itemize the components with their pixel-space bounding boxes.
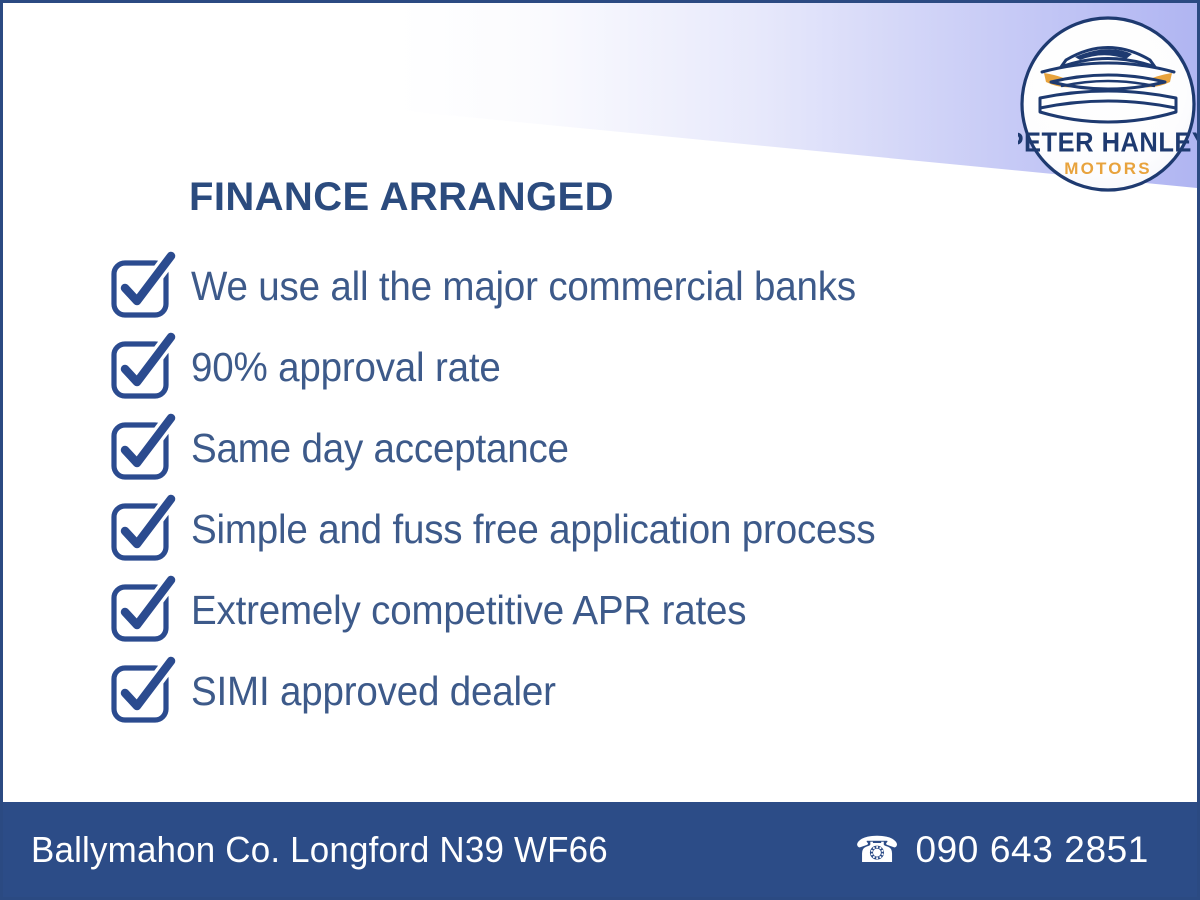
- checkbox-checked-icon: [109, 335, 175, 401]
- logo-sub-text: MOTORS: [1064, 159, 1152, 178]
- telephone-icon: ☎: [855, 832, 900, 868]
- list-item-label: Same day acceptance: [191, 428, 569, 469]
- list-item: We use all the major commercial banks: [109, 246, 1169, 327]
- list-item-label: Extremely competitive APR rates: [191, 590, 746, 631]
- checkbox-checked-icon: [109, 254, 175, 320]
- list-item: SIMI approved dealer: [109, 651, 1169, 732]
- logo-name-text: PETER HANLEY: [1018, 127, 1198, 158]
- phone-contact[interactable]: ☎ 090 643 2851: [855, 829, 1167, 871]
- list-item-label: 90% approval rate: [191, 347, 501, 388]
- checkbox-checked-icon: [109, 416, 175, 482]
- list-item-label: We use all the major commercial banks: [191, 266, 856, 307]
- checkbox-checked-icon: [109, 497, 175, 563]
- finance-arranged-poster: PETER HANLEY MOTORS FINANCE ARRANGED We …: [0, 0, 1200, 900]
- list-item: 90% approval rate: [109, 327, 1169, 408]
- list-item-label: SIMI approved dealer: [191, 671, 556, 712]
- checkbox-checked-icon: [109, 659, 175, 725]
- list-item: Simple and fuss free application process: [109, 489, 1169, 570]
- list-item: Same day acceptance: [109, 408, 1169, 489]
- phone-number-text: 090 643 2851: [915, 829, 1149, 871]
- contact-footer-bar: Ballymahon Co. Longford N39 WF66 ☎ 090 6…: [3, 802, 1197, 897]
- address-text: Ballymahon Co. Longford N39 WF66: [31, 829, 608, 871]
- page-title: FINANCE ARRANGED: [189, 175, 614, 220]
- dealer-logo[interactable]: PETER HANLEY MOTORS: [1018, 10, 1198, 198]
- list-item-label: Simple and fuss free application process: [191, 509, 875, 550]
- list-item: Extremely competitive APR rates: [109, 570, 1169, 651]
- checkbox-checked-icon: [109, 578, 175, 644]
- benefits-checklist: We use all the major commercial banks 90…: [109, 246, 1169, 732]
